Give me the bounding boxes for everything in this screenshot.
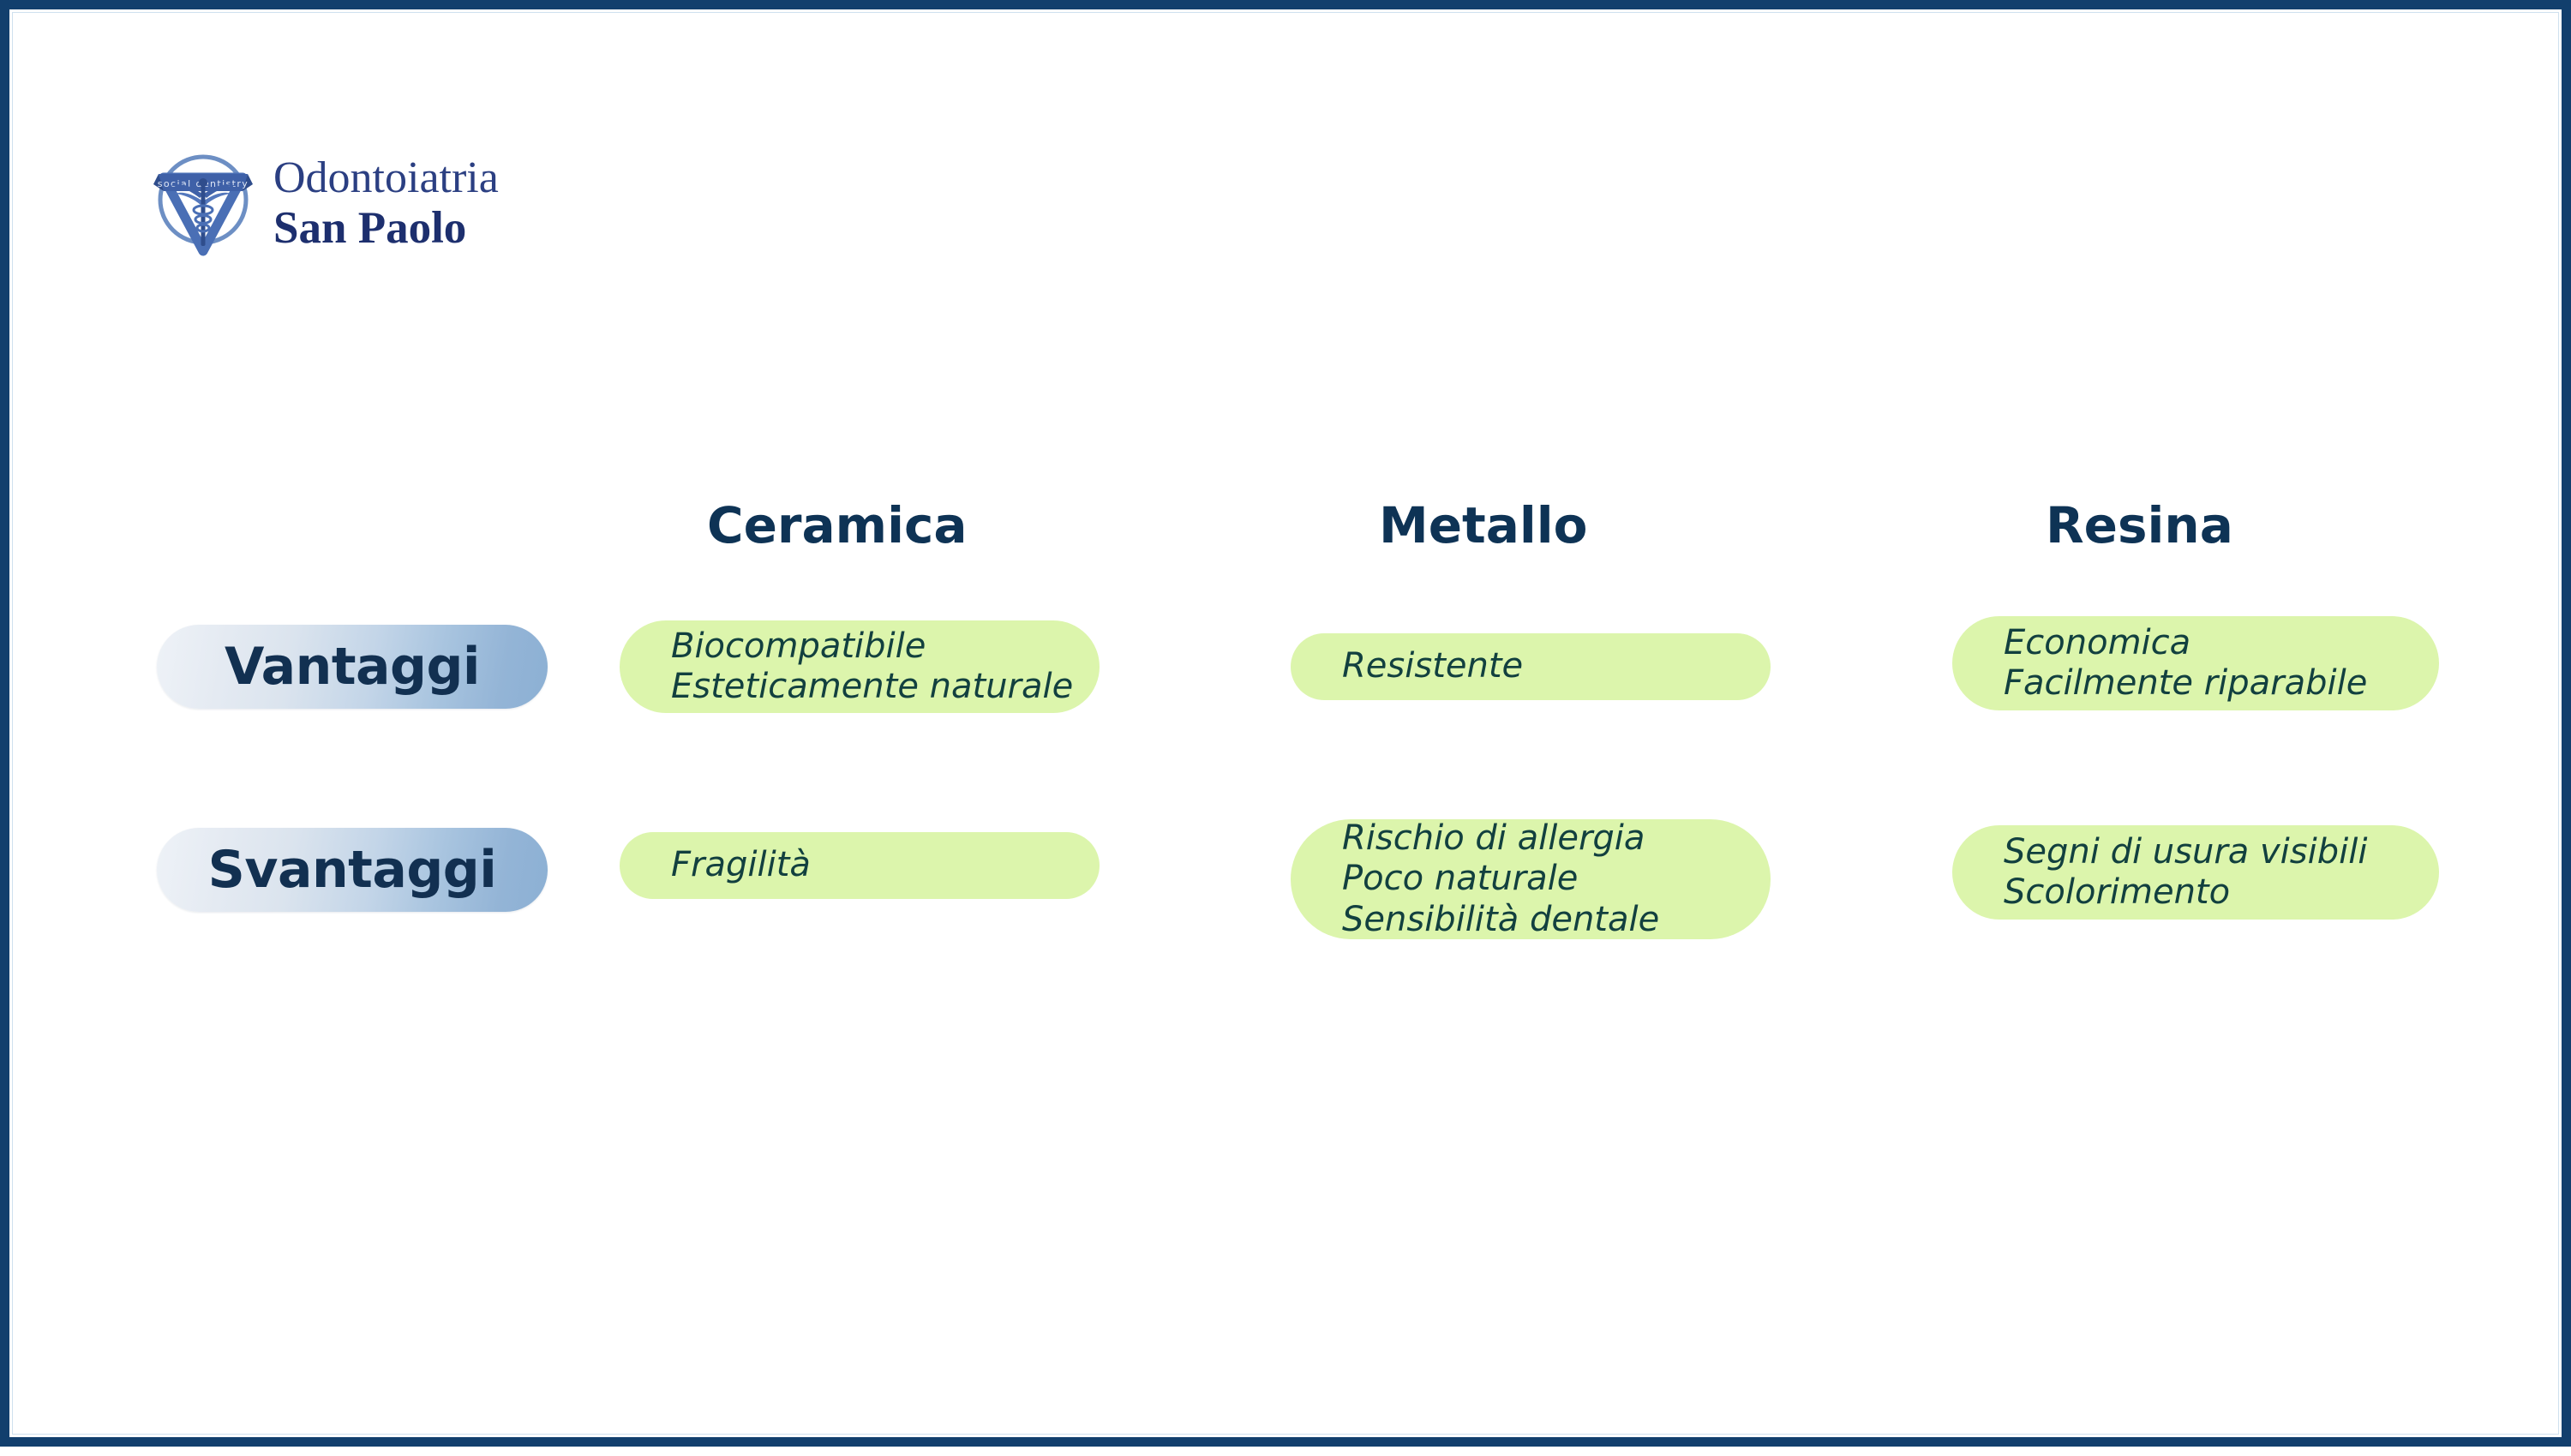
cell-svantaggi-ceramica[interactable]: Fragilità: [620, 832, 1100, 899]
column-header-ceramica: Ceramica: [707, 496, 967, 554]
slide-canvas: social dentistry Odontoiatria San Paolo …: [0, 0, 2571, 1447]
cell-line: Sensibilità dentale: [1342, 900, 1745, 940]
cell-line: Poco naturale: [1342, 859, 1745, 899]
cell-line: Economica: [2004, 623, 2413, 663]
cell-vantaggi-ceramica[interactable]: Biocompatibile Esteticamente naturale: [620, 620, 1100, 713]
row-label-svantaggi-text: Svantaggi: [208, 840, 497, 900]
comparison-matrix: Ceramica Metallo Resina Vantaggi Biocomp…: [9, 9, 2571, 1456]
cell-lines: Economica Facilmente riparabile: [1952, 623, 2439, 704]
cell-lines: Segni di usura visibili Scolorimento: [1952, 832, 2439, 913]
cell-line: Segni di usura visibili: [2004, 832, 2413, 872]
cell-lines: Rischio di allergia Poco naturale Sensib…: [1291, 818, 1771, 940]
cell-svantaggi-resina[interactable]: Segni di usura visibili Scolorimento: [1952, 825, 2439, 920]
cell-svantaggi-metallo[interactable]: Rischio di allergia Poco naturale Sensib…: [1291, 819, 1771, 939]
column-header-resina: Resina: [2046, 496, 2233, 554]
column-header-metallo: Metallo: [1379, 496, 1588, 554]
cell-line: Fragilità: [671, 845, 1074, 885]
cell-vantaggi-metallo[interactable]: Resistente: [1291, 633, 1771, 700]
row-label-svantaggi[interactable]: Svantaggi: [157, 828, 548, 912]
cell-line: Esteticamente naturale: [671, 667, 1074, 707]
cell-lines: Biocompatibile Esteticamente naturale: [620, 626, 1100, 707]
cell-vantaggi-resina[interactable]: Economica Facilmente riparabile: [1952, 616, 2439, 710]
cell-line: Biocompatibile: [671, 626, 1074, 667]
cell-line: Resistente: [1342, 646, 1745, 686]
row-label-vantaggi[interactable]: Vantaggi: [157, 625, 548, 709]
row-label-vantaggi-text: Vantaggi: [225, 637, 480, 697]
cell-line: Scolorimento: [2004, 872, 2413, 913]
cell-lines: Resistente: [1291, 646, 1771, 686]
cell-lines: Fragilità: [620, 845, 1100, 885]
cell-line: Rischio di allergia: [1342, 818, 1745, 859]
cell-line: Facilmente riparabile: [2004, 663, 2413, 704]
